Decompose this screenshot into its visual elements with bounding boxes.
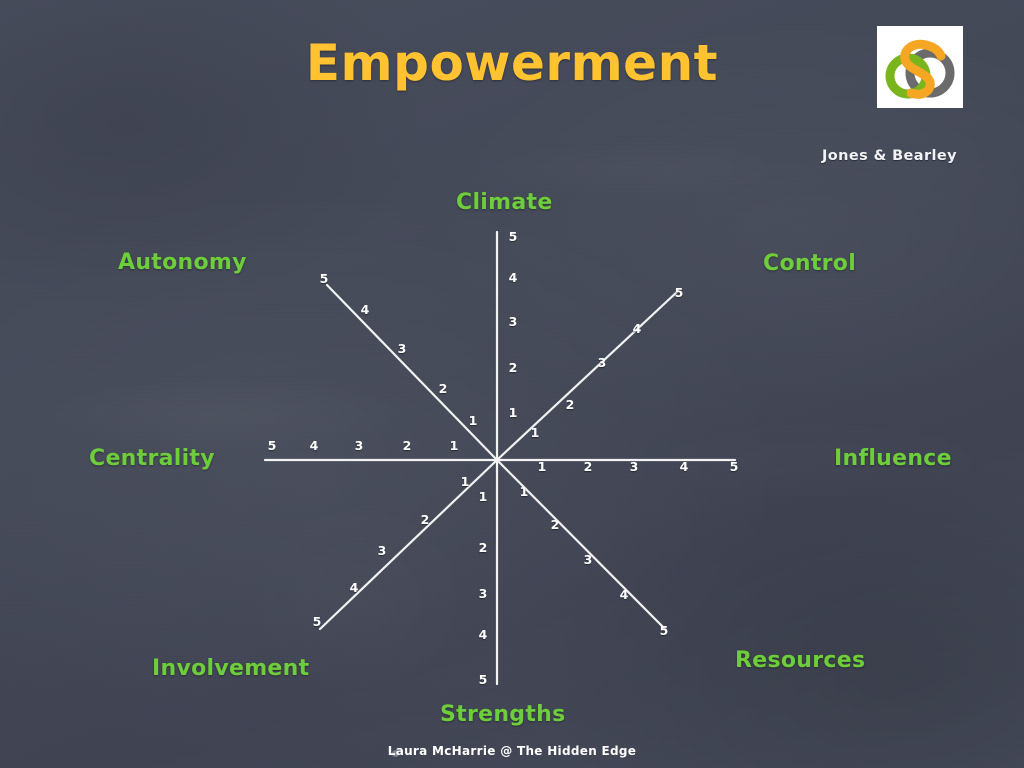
tick-strengths-5: 5 [479,674,488,687]
axis-label-centrality: Centrality [89,446,215,471]
axis-label-involvement: Involvement [152,656,309,681]
tick-climate-2: 2 [509,362,518,375]
tick-involvement-3: 3 [378,545,387,558]
tick-resources-4: 4 [620,589,629,602]
axis-line-involvement [320,460,497,629]
tick-strengths-3: 3 [479,588,488,601]
slide-canvas: Empowerment Jones & Bearley Climate Cont… [0,0,1024,768]
tick-autonomy-5: 5 [320,273,329,286]
tick-autonomy-4: 4 [361,304,370,317]
tick-influence-5: 5 [730,461,739,474]
tick-centrality-2: 2 [403,440,412,453]
tick-autonomy-2: 2 [439,383,448,396]
axis-label-influence: Influence [834,446,952,471]
radar-axes-chart [0,0,1024,768]
axis-label-climate: Climate [456,190,553,215]
tick-centrality-4: 4 [310,440,319,453]
tick-involvement-1: 1 [461,476,470,489]
tick-influence-3: 3 [630,461,639,474]
tick-involvement-4: 4 [350,582,359,595]
axis-line-control [497,291,678,460]
tick-autonomy-3: 3 [398,343,407,356]
tick-strengths-4: 4 [479,629,488,642]
tick-resources-1: 1 [520,486,529,499]
tick-resources-3: 3 [584,554,593,567]
tick-influence-1: 1 [538,461,547,474]
axis-lines [265,232,735,684]
tick-control-1: 1 [531,427,540,440]
tick-centrality-5: 5 [268,440,277,453]
tick-control-2: 2 [566,399,575,412]
tick-climate-1: 1 [509,407,518,420]
tick-involvement-5: 5 [313,616,322,629]
axis-label-resources: Resources [735,648,865,673]
tick-control-5: 5 [675,287,684,300]
tick-involvement-2: 2 [421,514,430,527]
tick-strengths-2: 2 [479,542,488,555]
tick-climate-3: 3 [509,316,518,329]
tick-control-3: 3 [598,357,607,370]
tick-control-4: 4 [633,323,642,336]
axis-label-control: Control [763,251,856,276]
tick-resources-5: 5 [660,625,669,638]
tick-centrality-1: 1 [450,440,459,453]
tick-climate-4: 4 [509,272,518,285]
axis-label-strengths: Strengths [440,702,566,727]
tick-autonomy-1: 1 [469,415,478,428]
axis-label-autonomy: Autonomy [118,250,247,275]
tick-centrality-3: 3 [355,440,364,453]
tick-climate-5: 5 [509,231,518,244]
tick-resources-2: 2 [551,519,560,532]
tick-strengths-1: 1 [479,491,488,504]
tick-influence-4: 4 [680,461,689,474]
footer-credit: Laura McHarrie @ The Hidden Edge [0,744,1024,758]
axis-line-autonomy [327,285,497,460]
tick-influence-2: 2 [584,461,593,474]
